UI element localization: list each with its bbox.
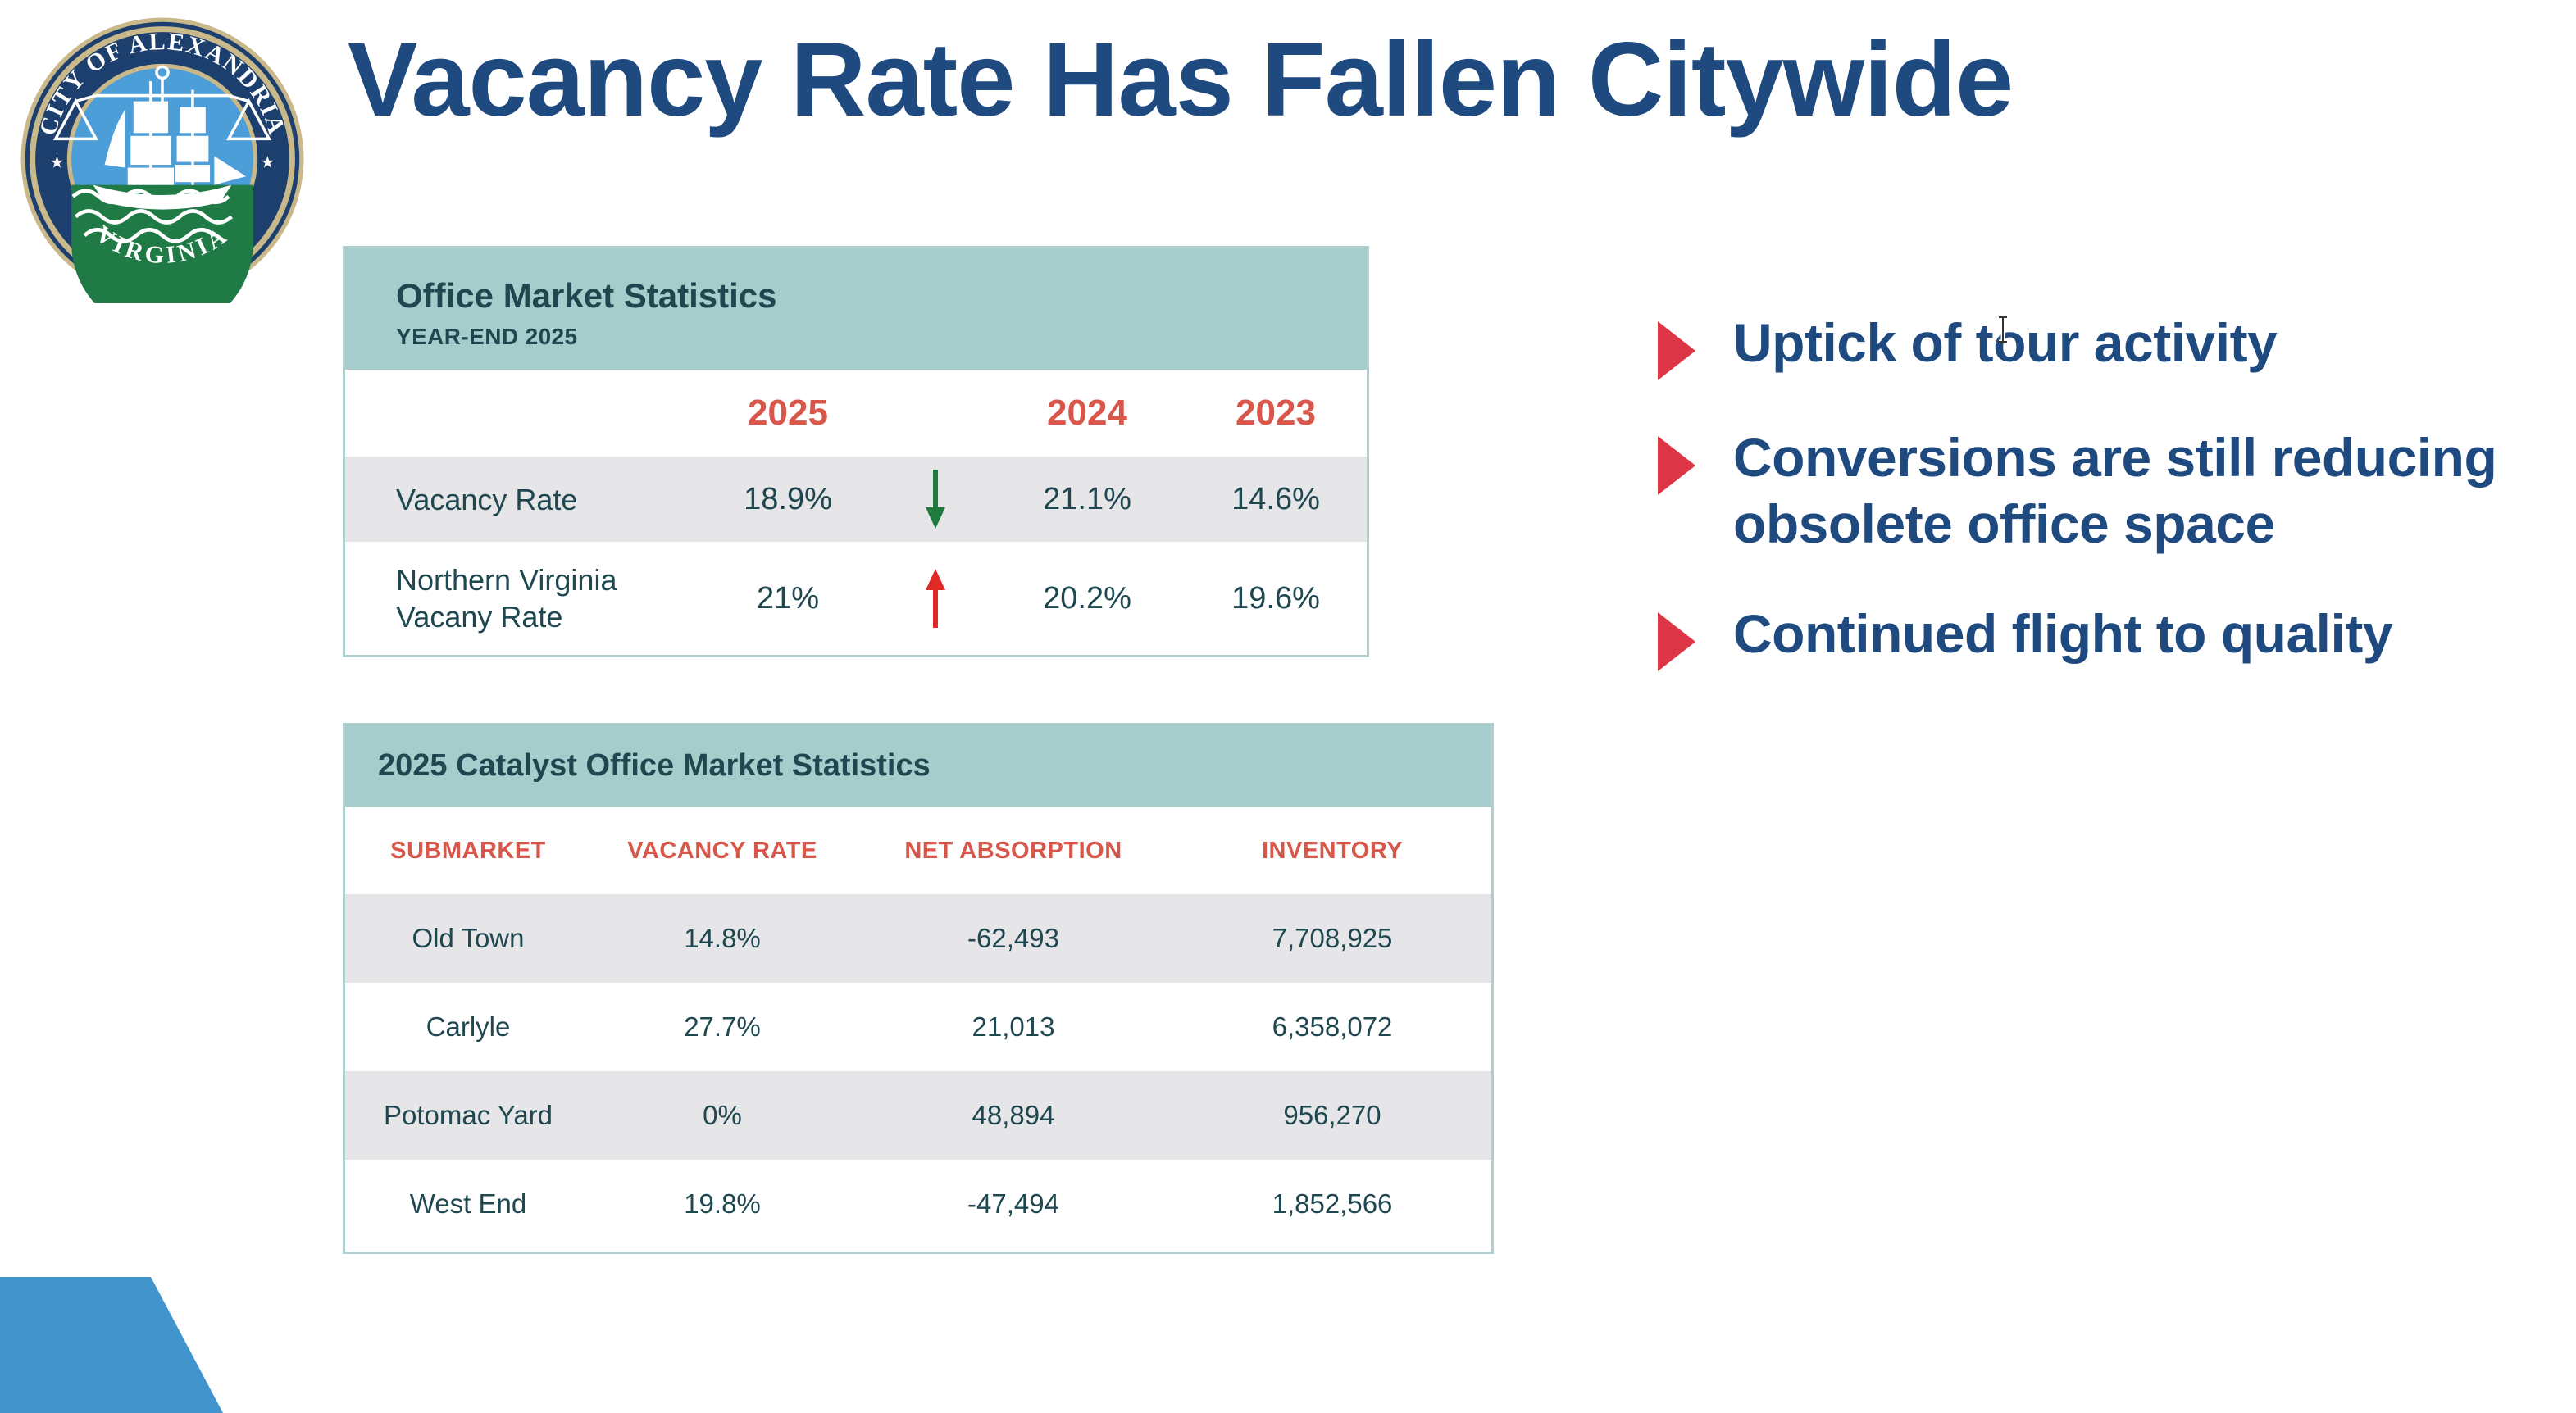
cell-vacancy-rate: 19.8% [591,1188,853,1220]
city-of-alexandria-seal: CITY OF ALEXANDRIA VIRGINIA ★ ★ [18,15,307,303]
bullet-text: Conversions are still reducing obsolete … [1733,425,2527,557]
column-header-2025: 2025 [690,393,886,434]
table-header-row: 2025 2024 2023 [345,370,1367,457]
cell-vacancy-rate: 0% [591,1100,853,1131]
row-label-northern-virginia-vacancy-rate: Northern Virginia Vacany Rate [345,561,690,635]
table-row: Northern Virginia Vacany Rate 21% 20.2% … [345,542,1367,655]
cell-nova-2025: 21% [690,581,886,616]
page-title: Vacancy Rate Has Fallen Citywide [348,28,2479,133]
triangle-bullet-icon [1658,436,1695,495]
column-header-2024: 2024 [985,393,1190,434]
column-header-2023: 2023 [1190,393,1362,434]
list-item: Continued flight to quality [1658,601,2527,671]
office-table-title: Office Market Statistics [396,276,1367,316]
table-row: Vacancy Rate 18.9% 21.1% 14.6% [345,457,1367,542]
triangle-bullet-icon [1658,612,1695,671]
cell-vacancy-rate: 14.8% [591,923,853,954]
svg-text:★: ★ [261,154,275,172]
cell-net-absorption: 48,894 [853,1100,1173,1131]
cell-submarket: Carlyle [345,1011,591,1043]
list-item: Uptick of tour activity [1658,310,2527,380]
column-header-net-absorption: NET ABSORPTION [853,838,1173,865]
trend-up-icon [886,567,985,629]
cell-net-absorption: -47,494 [853,1188,1173,1220]
text-cursor-icon [1996,316,2010,343]
table-row: Old Town 14.8% -62,493 7,708,925 [345,894,1491,983]
cell-net-absorption: -62,493 [853,923,1173,954]
row-label-line-1: Northern Virginia [396,561,690,598]
cell-inventory: 1,852,566 [1173,1188,1491,1220]
column-header-vacancy-rate: VACANCY RATE [591,838,853,865]
cell-vacancy-2023: 14.6% [1190,482,1362,517]
key-takeaways-list: Uptick of tour activity Conversions are … [1658,310,2527,716]
table-row: Potomac Yard 0% 48,894 956,270 [345,1071,1491,1160]
cell-inventory: 6,358,072 [1173,1011,1491,1043]
cell-vacancy-rate: 27.7% [591,1011,853,1043]
cell-nova-2023: 19.6% [1190,581,1362,616]
cell-vacancy-2024: 21.1% [985,482,1190,517]
row-label-vacancy-rate: Vacancy Rate [345,481,690,518]
trend-down-icon [886,468,985,530]
catalyst-table-header: 2025 Catalyst Office Market Statistics [345,725,1491,807]
table-row: Carlyle 27.7% 21,013 6,358,072 [345,983,1491,1071]
office-market-statistics-table: Office Market Statistics YEAR-END 2025 2… [343,246,1369,657]
column-header-inventory: INVENTORY [1173,838,1491,865]
decorative-corner-trapezoid [0,1277,302,1413]
table-header-row: SUBMARKET VACANCY RATE NET ABSORPTION IN… [345,807,1491,894]
cell-vacancy-2025: 18.9% [690,482,886,517]
cell-inventory: 956,270 [1173,1100,1491,1131]
svg-text:★: ★ [50,154,64,172]
cell-submarket: Old Town [345,923,591,954]
office-table-subtitle: YEAR-END 2025 [396,324,1367,350]
catalyst-office-market-statistics-table: 2025 Catalyst Office Market Statistics S… [343,723,1494,1254]
cell-submarket: West End [345,1188,591,1220]
row-label-line-2: Vacany Rate [396,598,690,635]
cell-nova-2024: 20.2% [985,581,1190,616]
cell-net-absorption: 21,013 [853,1011,1173,1043]
triangle-bullet-icon [1658,321,1695,380]
column-header-submarket: SUBMARKET [345,838,591,865]
bullet-text: Continued flight to quality [1733,601,2392,667]
cell-inventory: 7,708,925 [1173,923,1491,954]
table-row: West End 19.8% -47,494 1,852,566 [345,1160,1491,1248]
catalyst-table-title: 2025 Catalyst Office Market Statistics [378,748,1491,784]
office-table-header: Office Market Statistics YEAR-END 2025 [345,248,1367,370]
cell-submarket: Potomac Yard [345,1100,591,1131]
list-item: Conversions are still reducing obsolete … [1658,425,2527,557]
